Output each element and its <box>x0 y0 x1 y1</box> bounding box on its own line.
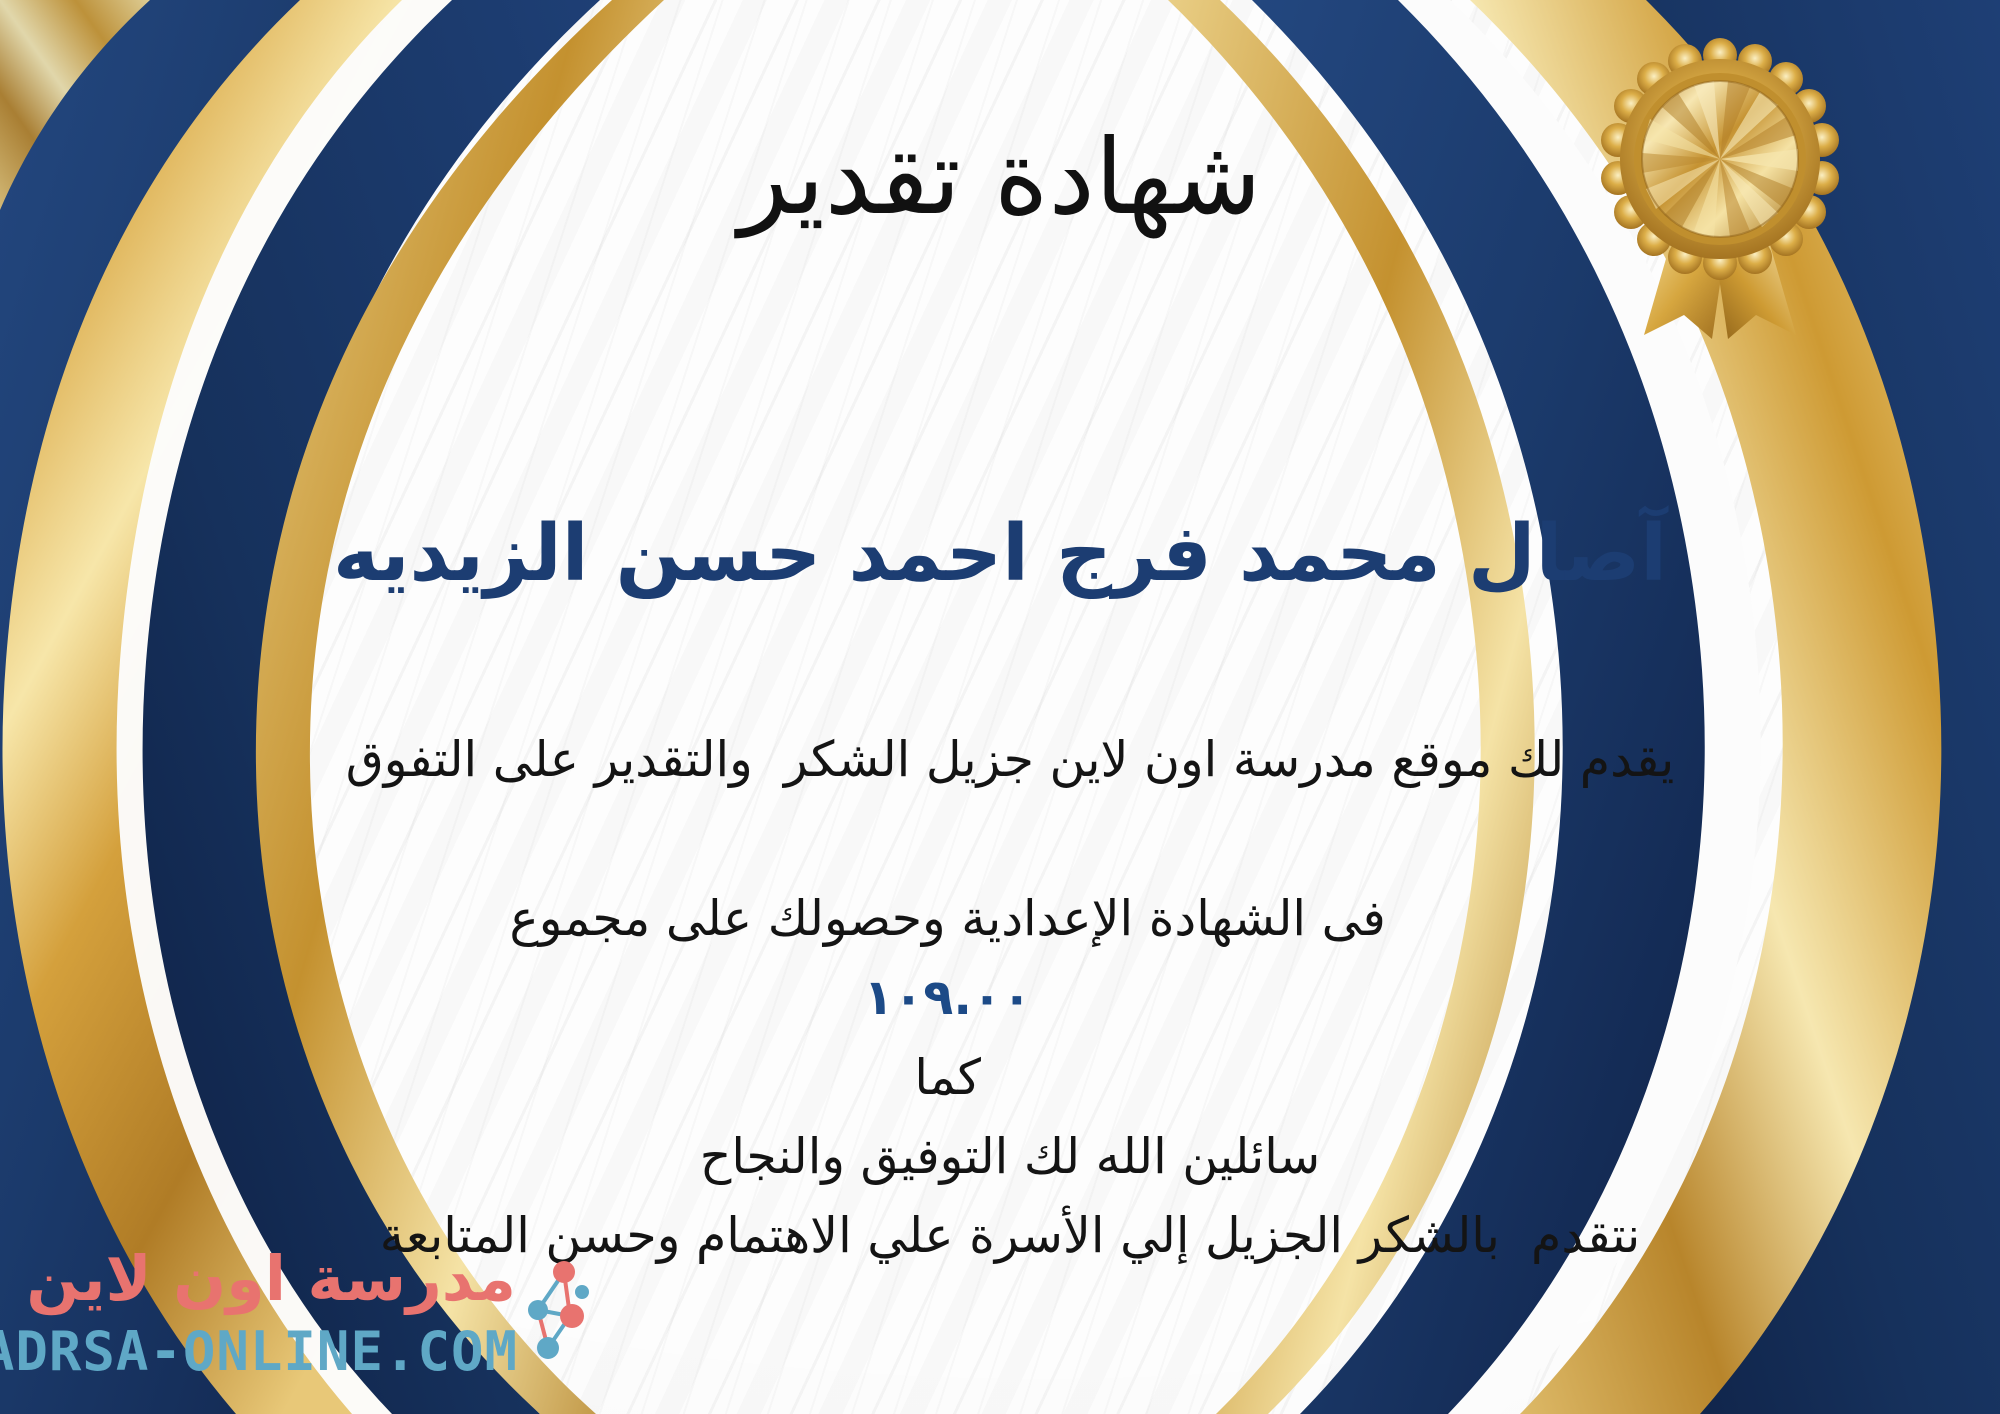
brand-website: MADRSA-ONLINE.COM <box>0 1320 518 1383</box>
brand-logo[interactable]: مدرسة اون لاين MADRSA-ONLINE.COM <box>28 1242 588 1390</box>
network-nodes-icon <box>518 1256 590 1364</box>
body-line-2-prefix: فى الشهادة الإعدادية وحصولك على مجموع <box>510 890 1386 947</box>
body-line-2-suffix: كما <box>914 1049 981 1106</box>
closing-wish: سائلين الله لك التوفيق والنجاح <box>250 1120 1770 1194</box>
grade-value: ١٠٩.٠٠ <box>864 969 1032 1026</box>
body-line-1: يقدم لك موقع مدرسة اون لاين جزيل الشكر و… <box>250 720 1770 799</box>
certificate-page: شهادة تقدير آصال محمد فرج احمد حسن الزيد… <box>0 0 2000 1414</box>
brand-arabic-name: مدرسة اون لاين <box>26 1242 516 1315</box>
recipient-name: آصال محمد فرج احمد حسن الزيديه <box>0 510 2000 600</box>
certificate-content: شهادة تقدير آصال محمد فرج احمد حسن الزيد… <box>0 0 2000 1414</box>
page-title: شهادة تقدير <box>0 120 2000 234</box>
